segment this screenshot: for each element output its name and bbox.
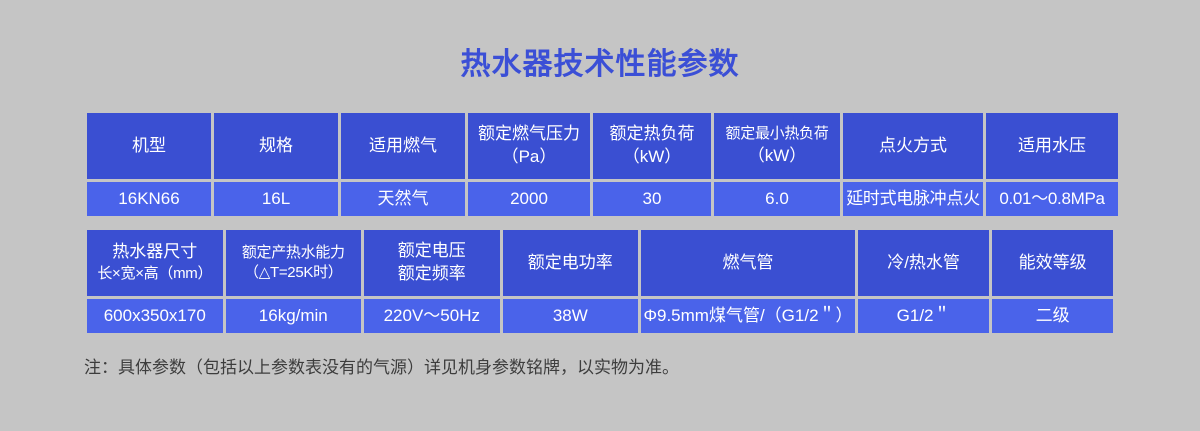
header-line-1: 冷/热水管 bbox=[860, 252, 987, 275]
header-line-1: 点火方式 bbox=[845, 135, 981, 158]
header-line-1: 规格 bbox=[216, 135, 336, 158]
page-title: 热水器技术性能参数 bbox=[0, 0, 1200, 80]
column-header-voltage-frequency: 额定电压 额定频率 bbox=[364, 230, 500, 296]
column-header-energy-rating: 能效等级 bbox=[992, 230, 1113, 296]
cell-energy-rating: 二级 bbox=[992, 299, 1113, 333]
header-line-1: 额定燃气压力 bbox=[470, 123, 588, 146]
table-header-row: 机型 规格 适用燃气 额定燃气压力 （Pa） bbox=[87, 113, 1118, 179]
table-header-row: 热水器尺寸 长×宽×高（mm） 额定产热水能力 （△T=25K时） 额定电压 额… bbox=[87, 230, 1113, 296]
header-line-2: 额定频率 bbox=[366, 263, 498, 286]
column-header-min-heat-load: 额定最小热负荷 （kW） bbox=[714, 113, 840, 179]
tables-container: 机型 规格 适用燃气 额定燃气压力 （Pa） bbox=[84, 80, 1116, 336]
column-header-gas-pipe: 燃气管 bbox=[641, 230, 855, 296]
footnote: 注：具体参数（包括以上参数表没有的气源）详见机身参数铭牌，以实物为准。 bbox=[84, 336, 1116, 378]
header-line-1: 额定热负荷 bbox=[595, 123, 709, 146]
header-line-2: 长×宽×高（mm） bbox=[89, 264, 221, 284]
cell-min-heat-load: 6.0 bbox=[714, 182, 840, 216]
column-header-rated-heat-load: 额定热负荷 （kW） bbox=[593, 113, 711, 179]
spec-table-secondary: 热水器尺寸 长×宽×高（mm） 额定产热水能力 （△T=25K时） 额定电压 额… bbox=[84, 227, 1116, 336]
table-row: 16KN66 16L 天然气 2000 30 6.0 延时式电脉冲点火 0.01… bbox=[87, 182, 1118, 216]
column-header-capacity-spec: 规格 bbox=[214, 113, 338, 179]
column-header-water-pressure: 适用水压 bbox=[986, 113, 1118, 179]
column-header-dimensions: 热水器尺寸 长×宽×高（mm） bbox=[87, 230, 223, 296]
cell-water-pipe: G1/2＂ bbox=[858, 299, 989, 333]
header-line-2: （Pa） bbox=[470, 146, 588, 169]
cell-gas-type: 天然气 bbox=[341, 182, 465, 216]
header-line-2: （kW） bbox=[595, 146, 709, 169]
column-header-rated-gas-pressure: 额定燃气压力 （Pa） bbox=[468, 113, 590, 179]
header-line-1: 额定产热水能力 bbox=[228, 243, 360, 263]
cell-voltage-frequency: 220V～50Hz bbox=[364, 299, 500, 333]
spec-table-primary: 机型 规格 适用燃气 额定燃气压力 （Pa） bbox=[84, 110, 1121, 219]
cell-model: 16KN66 bbox=[87, 182, 211, 216]
header-line-1: 燃气管 bbox=[643, 252, 853, 275]
header-line-1: 额定电压 bbox=[366, 240, 498, 263]
cell-rated-power: 38W bbox=[503, 299, 639, 333]
column-header-ignition-method: 点火方式 bbox=[843, 113, 983, 179]
cell-rated-gas-pressure: 2000 bbox=[468, 182, 590, 216]
column-header-model: 机型 bbox=[87, 113, 211, 179]
header-line-1: 机型 bbox=[89, 135, 209, 158]
column-header-water-pipe: 冷/热水管 bbox=[858, 230, 989, 296]
header-line-1: 适用燃气 bbox=[343, 135, 463, 158]
cell-ignition-method: 延时式电脉冲点火 bbox=[843, 182, 983, 216]
header-line-2: （kW） bbox=[716, 145, 838, 168]
header-line-2: （△T=25K时） bbox=[228, 263, 360, 283]
header-line-1: 适用水压 bbox=[988, 135, 1116, 158]
header-line-1: 热水器尺寸 bbox=[89, 241, 221, 264]
cell-rated-heat-load: 30 bbox=[593, 182, 711, 216]
table-row: 600x350x170 16kg/min 220V～50Hz 38W Φ9.5m… bbox=[87, 299, 1113, 333]
header-line-1: 额定电功率 bbox=[505, 252, 637, 275]
cell-water-pressure: 0.01～0.8MPa bbox=[986, 182, 1118, 216]
column-header-hot-water-output: 额定产热水能力 （△T=25K时） bbox=[226, 230, 362, 296]
header-line-1: 额定最小热负荷 bbox=[716, 124, 838, 144]
spec-sheet-page: 热水器技术性能参数 机型 规格 bbox=[0, 0, 1200, 431]
column-header-gas-type: 适用燃气 bbox=[341, 113, 465, 179]
header-line-1: 能效等级 bbox=[994, 252, 1111, 275]
cell-dimensions: 600x350x170 bbox=[87, 299, 223, 333]
column-header-rated-power: 额定电功率 bbox=[503, 230, 639, 296]
cell-gas-pipe: Φ9.5mm煤气管/（G1/2＂） bbox=[641, 299, 855, 333]
cell-capacity-spec: 16L bbox=[214, 182, 338, 216]
cell-hot-water-output: 16kg/min bbox=[226, 299, 362, 333]
